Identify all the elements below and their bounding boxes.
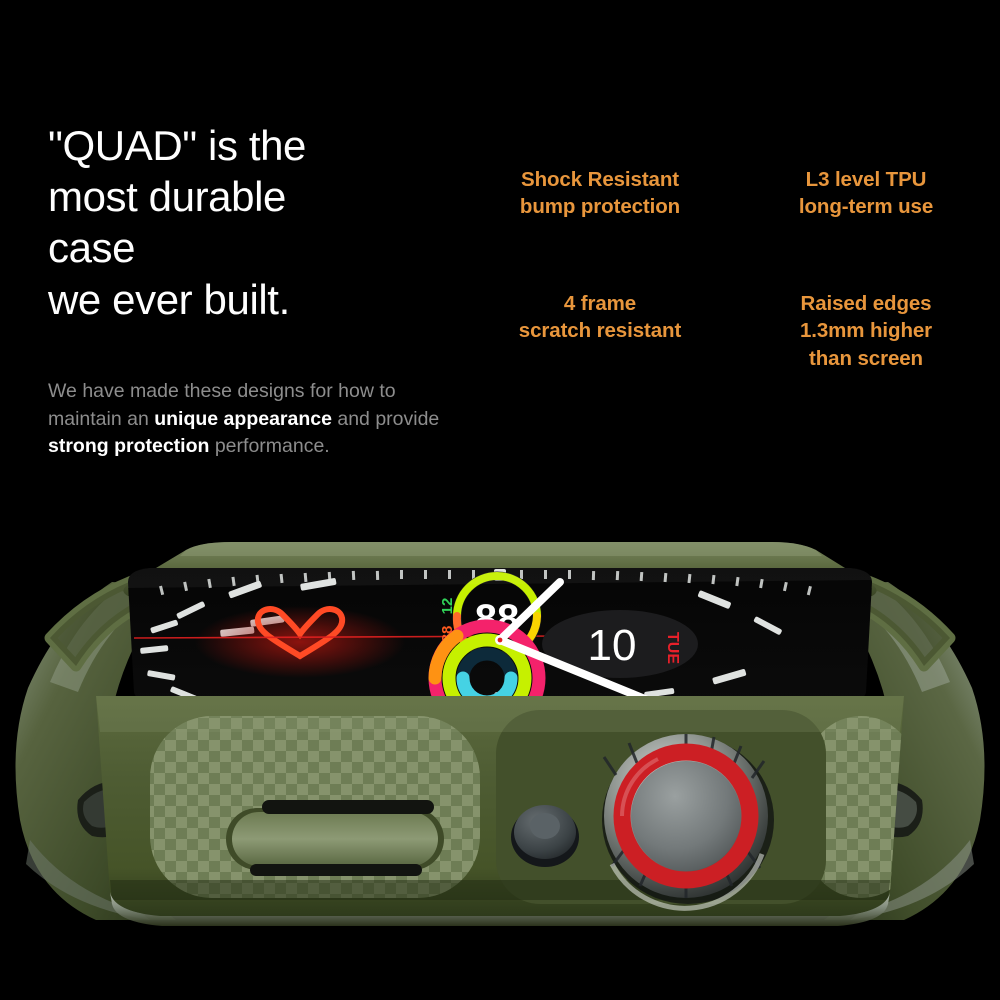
feature-line: scratch resistant: [480, 317, 720, 344]
feature-line: bump protection: [480, 193, 720, 220]
top-complication-green-value: 12: [439, 598, 456, 615]
feature-callout-l3-tpu: L3 level TPU long-term use: [748, 166, 984, 221]
subcopy-highlight-unique-appearance: unique appearance: [154, 408, 332, 430]
side-button[interactable]: [226, 800, 444, 876]
date-weekday: TUE: [664, 632, 681, 664]
page-subcopy: We have made these designs for how to ma…: [48, 378, 448, 461]
feature-line: 1.3mm higher: [748, 317, 984, 344]
feature-callout-raised-edges: Raised edges 1.3mm higher than screen: [748, 290, 984, 372]
feature-line: Shock Resistant: [480, 166, 720, 193]
feature-line: long-term use: [748, 193, 984, 220]
headline-line-2: most durable: [48, 171, 468, 222]
subcopy-text-2: and provide: [332, 408, 439, 430]
headline-line-4: we ever built.: [48, 274, 468, 325]
heart-rate-complication: [195, 606, 405, 678]
feature-line: 4 frame: [480, 290, 720, 317]
headline-line-1: "QUAD" is the: [48, 120, 468, 171]
page-headline: "QUAD" is the most durable case we ever …: [48, 120, 468, 325]
subcopy-highlight-strong-protection: strong protection: [48, 435, 209, 457]
feature-callout-scratch-resistant: 4 frame scratch resistant: [480, 290, 720, 345]
product-image: 88 12 88 10 TUE: [0, 520, 1000, 970]
subcopy-text-3: performance.: [209, 435, 329, 457]
feature-line: L3 level TPU: [748, 166, 984, 193]
feature-callout-shock-resistant: Shock Resistant bump protection: [480, 166, 720, 221]
feature-line: than screen: [748, 345, 984, 372]
headline-line-3: case: [48, 222, 468, 273]
date-number: 10: [588, 621, 637, 670]
feature-line: Raised edges: [748, 290, 984, 317]
case-body: [96, 696, 916, 926]
digital-crown[interactable]: [602, 734, 774, 908]
